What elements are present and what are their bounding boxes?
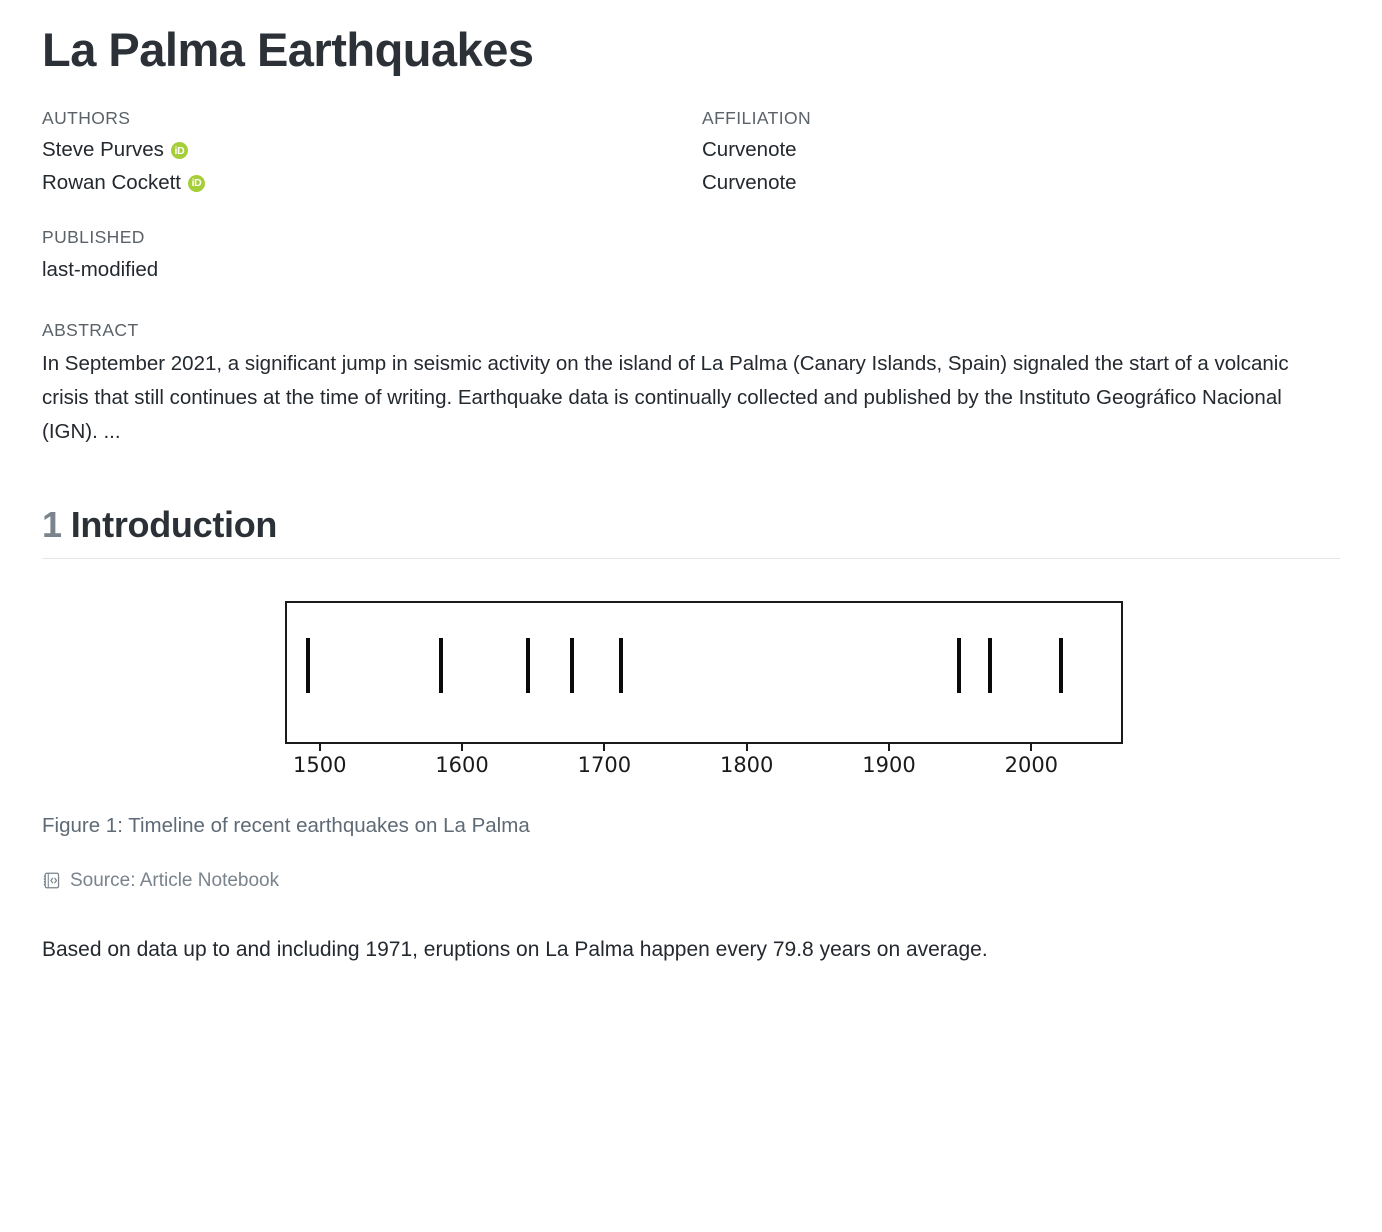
affiliation-label: AFFILIATION [702,105,1340,131]
timeline-event-marker [526,638,530,693]
author-entry: Steve Purves iD [42,134,702,166]
timeline-event-marker [439,638,443,693]
affiliation-entry: Curvenote [702,167,1340,199]
figure-1: 150016001700180019002000 Figure 1: Timel… [42,593,1340,894]
axis-tick-label: 1500 [293,753,346,777]
published-value: last-modified [42,254,1340,286]
published-label: PUBLISHED [42,224,1340,250]
orcid-icon[interactable]: iD [188,175,205,192]
chart-frame [285,601,1123,744]
notebook-code-icon [42,871,61,890]
axis-tick [603,744,605,751]
document-page: La Palma Earthquakes AUTHORS Steve Purve… [0,24,1382,968]
page-title: La Palma Earthquakes [42,24,1340,77]
abstract-text: In September 2021, a significant jump in… [42,347,1340,449]
timeline-event-marker [619,638,623,693]
timeline-event-marker [957,638,961,693]
timeline-event-marker [306,638,310,693]
section-number: 1 [42,504,62,545]
authors-block: AUTHORS Steve Purves iD Rowan Cockett iD [42,105,702,199]
section-heading-introduction: 1Introduction [42,503,1340,559]
timeline-event-marker [988,638,992,693]
axis-tick-label: 1600 [435,753,488,777]
figure-source[interactable]: Source: Article Notebook [42,868,1340,895]
timeline-event-marker [570,638,574,693]
axis-tick [888,744,890,751]
axis-tick-label: 2000 [1005,753,1058,777]
orcid-icon[interactable]: iD [171,142,188,159]
axis-tick [461,744,463,751]
abstract-block: ABSTRACT In September 2021, a significan… [42,317,1340,448]
timeline-event-marker [1059,638,1063,693]
published-block: PUBLISHED last-modified [42,224,1340,285]
affiliation-entry: Curvenote [702,134,1340,166]
body-paragraph: Based on data up to and including 1971, … [42,932,1302,967]
axis-tick-label: 1800 [720,753,773,777]
axis-tick [746,744,748,751]
axis-tick-label: 1900 [862,753,915,777]
author-name: Steve Purves [42,134,164,166]
authors-affiliation-row: AUTHORS Steve Purves iD Rowan Cockett iD… [42,105,1340,199]
figure-source-label: Source: Article Notebook [70,868,279,895]
author-name: Rowan Cockett [42,167,181,199]
section-title: Introduction [71,504,277,545]
earthquake-timeline-chart: 150016001700180019002000 [243,593,1123,783]
figure-plot-area: 150016001700180019002000 [42,593,1340,783]
authors-label: AUTHORS [42,105,702,131]
affiliation-block: AFFILIATION Curvenote Curvenote [702,105,1340,199]
axis-tick-label: 1700 [578,753,631,777]
axis-tick [319,744,321,751]
document-metadata: AUTHORS Steve Purves iD Rowan Cockett iD… [42,105,1340,449]
author-entry: Rowan Cockett iD [42,167,702,199]
figure-caption: Figure 1: Timeline of recent earthquakes… [42,811,1340,842]
axis-tick [1030,744,1032,751]
orcid-icon-label: iD [174,146,184,157]
abstract-label: ABSTRACT [42,317,1340,343]
orcid-icon-label: iD [192,178,202,189]
